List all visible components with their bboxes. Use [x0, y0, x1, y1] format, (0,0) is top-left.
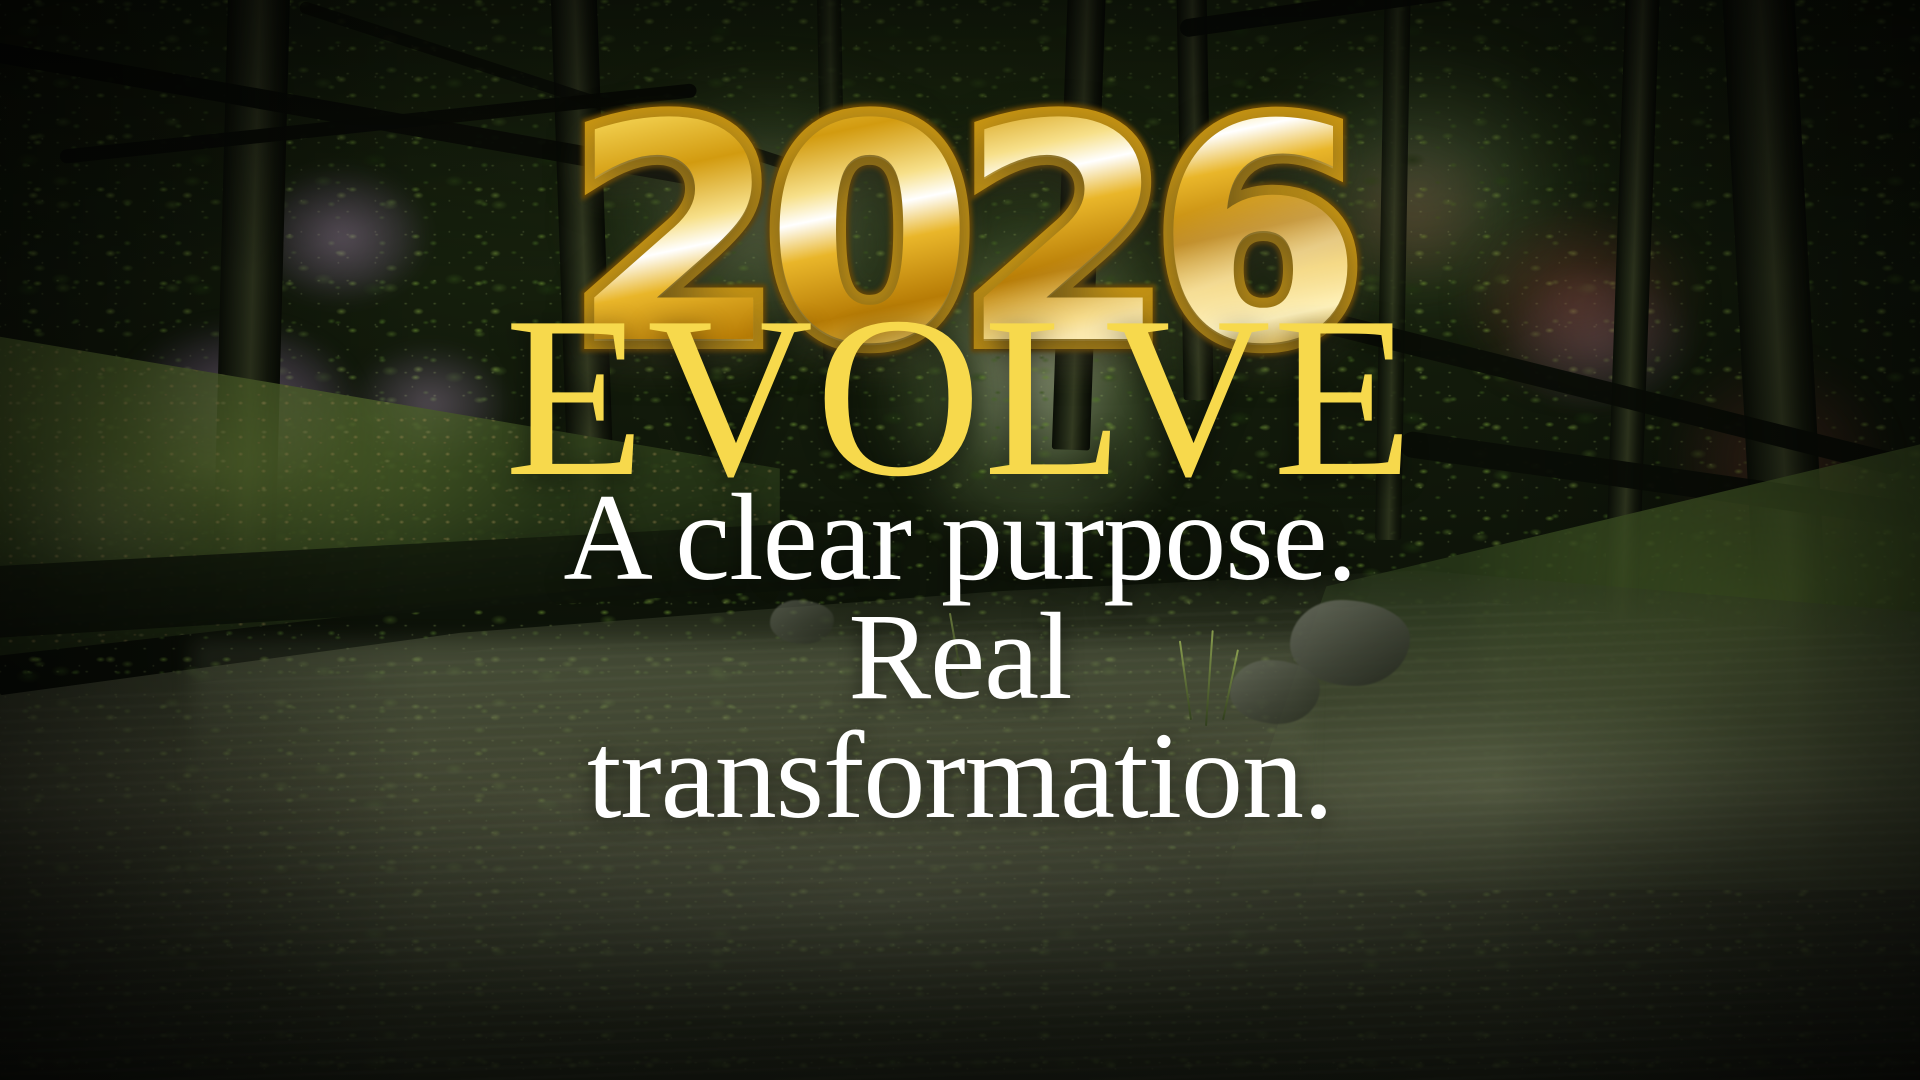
- poster-content: 2026 2026 2026 2026 EVOLVE A clear purpo…: [0, 0, 1920, 1080]
- headline-evolve: EVOLVE: [0, 300, 1920, 493]
- poster-canvas: 2026 2026 2026 2026 EVOLVE A clear purpo…: [0, 0, 1920, 1080]
- tagline-line-2: transformation.: [460, 716, 1460, 835]
- tagline-line-1: A clear purpose. Real: [460, 478, 1460, 716]
- tagline: A clear purpose. Real transformation.: [460, 478, 1460, 835]
